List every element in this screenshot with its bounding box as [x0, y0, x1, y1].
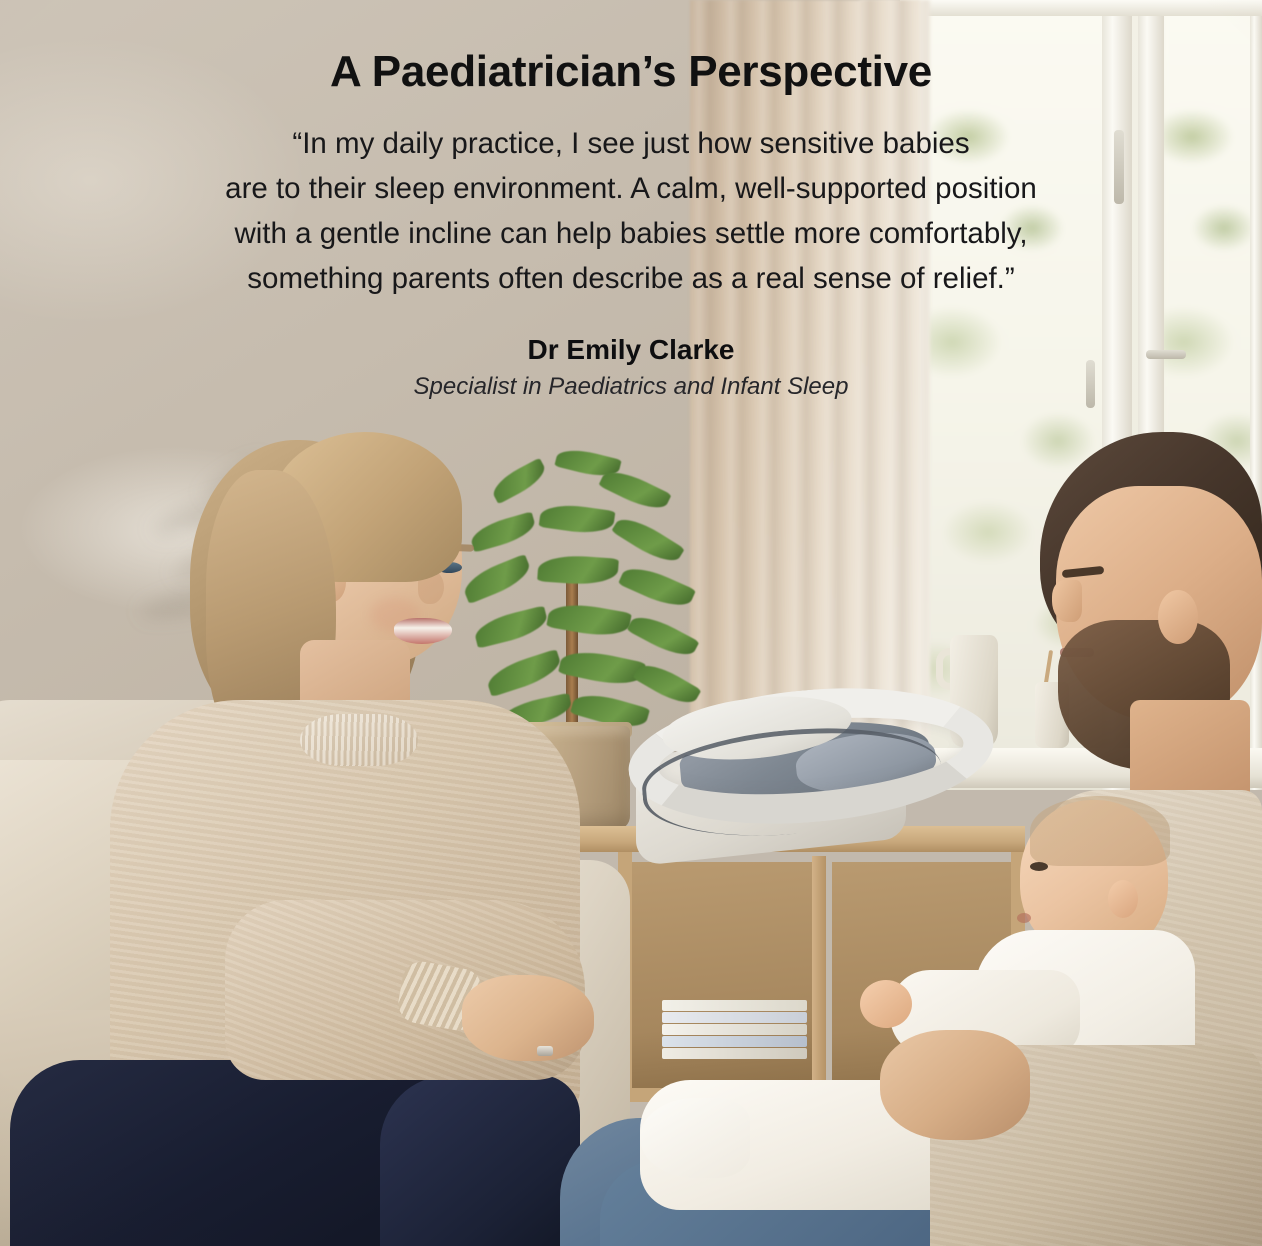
book-stack: [662, 1000, 807, 1062]
book: [662, 1000, 807, 1011]
baby-hair: [1030, 796, 1170, 866]
baby-eye: [1030, 862, 1048, 871]
text-overlay: A Paediatrician’s Perspective “In my dai…: [0, 0, 1262, 470]
baby-ear: [1108, 880, 1138, 918]
baby-foot: [640, 1098, 750, 1178]
man-hand: [880, 1030, 1030, 1140]
author-name: Dr Emily Clarke: [0, 334, 1262, 366]
page-title: A Paediatrician’s Perspective: [0, 48, 1262, 96]
woman-sweater-collar: [300, 714, 418, 766]
woman-clasped-hands: [462, 975, 594, 1061]
quote-line: something parents often describe as a re…: [0, 257, 1262, 302]
scene-photograph: A Paediatrician’s Perspective “In my dai…: [0, 0, 1262, 1246]
quote-line: “In my daily practice, I see just how se…: [0, 122, 1262, 167]
book: [662, 1012, 807, 1023]
author-role: Specialist in Paediatrics and Infant Sle…: [0, 373, 1262, 401]
quote-block: “In my daily practice, I see just how se…: [0, 122, 1262, 301]
quote-line: are to their sleep environment. A calm, …: [0, 167, 1262, 212]
baby-hand: [860, 980, 912, 1028]
man-ear: [1158, 590, 1198, 644]
man-nose: [1052, 580, 1082, 622]
book: [662, 1036, 807, 1047]
woman-wedding-ring: [537, 1046, 553, 1056]
book: [662, 1048, 807, 1059]
baby-lounger-product: [628, 690, 998, 850]
woman-knee: [380, 1075, 580, 1246]
quote-line: with a gentle incline can help babies se…: [0, 212, 1262, 257]
book: [662, 1024, 807, 1035]
shelf-divider: [812, 856, 826, 1096]
baby-mouth: [1017, 913, 1031, 923]
